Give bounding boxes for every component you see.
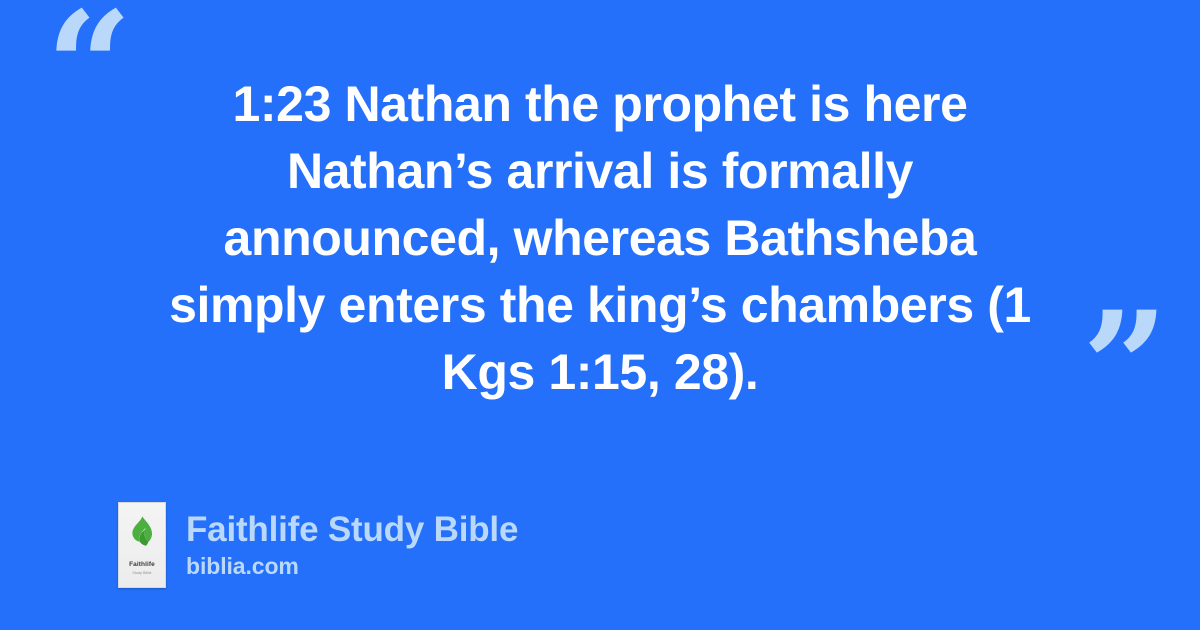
quote-body: 1:23 Nathan the prophet is here Nathan’s… xyxy=(100,62,1100,414)
brand-url[interactable]: biblia.com xyxy=(186,552,518,580)
book-cover-thumbnail: Faithlife Study Bible xyxy=(118,502,166,588)
faithlife-flame-leaf-icon xyxy=(130,516,154,546)
footer-branding: Faithlife Study Bible Faithlife Study Bi… xyxy=(118,502,518,588)
quote-card: “ ” 1:23 Nathan the prophet is here Nath… xyxy=(0,0,1200,630)
brand-text-block: Faithlife Study Bible biblia.com xyxy=(186,510,518,580)
book-cover-subtitle: Study Bible xyxy=(132,571,151,575)
book-cover-title: Faithlife xyxy=(129,562,155,569)
brand-title: Faithlife Study Bible xyxy=(186,510,518,550)
quote-text: 1:23 Nathan the prophet is here Nathan’s… xyxy=(100,71,1100,406)
